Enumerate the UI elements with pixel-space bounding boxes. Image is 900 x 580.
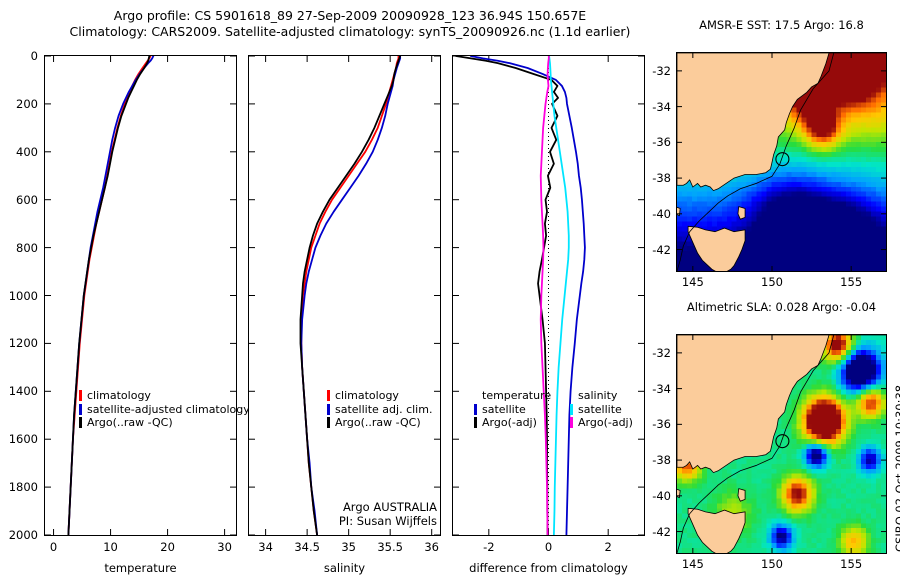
temperature-xtick-label: 10 (103, 540, 118, 554)
difference-profile-axes (452, 55, 645, 536)
sst-map-lat-tick-label: -32 (652, 64, 671, 78)
temperature-axis-label: temperature (44, 561, 237, 575)
sla-map-lon-tick-label: 150 (761, 557, 783, 571)
legend-entry: climatology (79, 389, 250, 403)
depth-tick-label: 600 (16, 193, 38, 207)
legend-entry: satellite-adjusted climatology (79, 403, 250, 417)
argo-attribution: Argo AUSTRALIAPI: Susan Wijffels (241, 500, 437, 528)
temperature-plot-area (45, 56, 236, 535)
sst-map-lon-tick-label: 150 (761, 275, 783, 289)
legend-entry: satellite (570, 403, 633, 417)
depth-tick-label: 1000 (9, 289, 38, 303)
salinity-legend: climatologysatellite adj. clim.Argo(..ra… (327, 389, 432, 430)
legend-color-swatch (474, 417, 477, 428)
legend-label: climatology (87, 389, 151, 403)
credit-text: CSIRO 02-Oct-2009 10:30:38 (893, 385, 900, 552)
series-line (68, 56, 150, 535)
depth-tick-label: 1800 (9, 480, 38, 494)
sst-map-axes (676, 52, 887, 272)
difference-axis-label: difference from climatology (437, 561, 660, 575)
series-line (301, 56, 400, 535)
title-line-2: Climatology: CARS2009. Satellite-adjuste… (30, 24, 670, 40)
legend-heading: temperature (474, 389, 551, 403)
legend-label: Argo(-adj) (482, 416, 537, 430)
difference-xtick-label: 2 (605, 540, 612, 554)
temperature-xtick-label: 20 (160, 540, 175, 554)
legend-color-swatch (79, 404, 82, 415)
salinity-xtick-label: 35 (341, 540, 356, 554)
sla-map-lon-tick-label: 155 (840, 557, 862, 571)
salinity-xtick-label: 35.5 (377, 540, 403, 554)
temperature-legend: climatologysatellite-adjusted climatolog… (79, 389, 250, 430)
legend-label: satellite (578, 403, 622, 417)
salinity-axis-label: salinity (248, 561, 441, 575)
legend-entry: Argo(-adj) (474, 416, 551, 430)
sst-map-lat-tick-label: -34 (652, 100, 671, 114)
salinity-profile-axes (248, 55, 441, 536)
sla-map-lat-tick-label: -42 (652, 525, 671, 539)
title-line-1: Argo profile: CS 5901618_89 27-Sep-2009 … (30, 8, 670, 24)
sla-map-axes (676, 334, 887, 554)
sst-map-lat-tick-label: -40 (652, 207, 671, 221)
difference-legend-temperature: temperaturesatelliteArgo(-adj) (474, 389, 551, 430)
series-line (68, 56, 153, 535)
depth-tick-label: 1600 (9, 432, 38, 446)
legend-label: Argo(..raw -QC) (87, 416, 173, 430)
legend-label: Argo(..raw -QC) (335, 416, 421, 430)
series-line (68, 56, 149, 535)
legend-entry: satellite (474, 403, 551, 417)
legend-label: Argo(-adj) (578, 416, 633, 430)
salinity-plot-area (249, 56, 440, 535)
legend-label: satellite (482, 403, 526, 417)
legend-entry: satellite adj. clim. (327, 403, 432, 417)
salinity-xtick-label: 34.5 (294, 540, 320, 554)
depth-tick-label: 0 (31, 49, 38, 63)
depth-tick-label: 1200 (9, 336, 38, 350)
series-line (300, 56, 400, 535)
legend-color-swatch (327, 417, 330, 428)
legend-label: satellite adj. clim. (335, 403, 432, 417)
series-line (301, 56, 398, 535)
sst-map-lon-tick-label: 155 (840, 275, 862, 289)
legend-label: satellite-adjusted climatology (87, 403, 250, 417)
series-line (471, 56, 585, 535)
legend-entry: Argo(..raw -QC) (327, 416, 432, 430)
sst-map-lat-tick-label: -38 (652, 171, 671, 185)
difference-xtick-label: -2 (483, 540, 494, 554)
salinity-xtick-label: 34 (258, 540, 273, 554)
legend-label: climatology (335, 389, 399, 403)
legend-color-swatch (327, 404, 330, 415)
sla-map-lat-tick-label: -38 (652, 453, 671, 467)
difference-legend-salinity: salinitysatelliteArgo(-adj) (570, 389, 633, 430)
attribution-line: PI: Susan Wijffels (241, 514, 437, 528)
legend-color-swatch (474, 404, 477, 415)
legend-color-swatch (79, 417, 82, 428)
depth-tick-label: 200 (16, 97, 38, 111)
legend-color-swatch (570, 417, 573, 428)
temperature-profile-axes (44, 55, 237, 536)
sla-map-lat-tick-label: -36 (652, 417, 671, 431)
difference-xtick-label: 0 (545, 540, 552, 554)
sla-map-lat-tick-label: -34 (652, 382, 671, 396)
legend-color-swatch (570, 404, 573, 415)
depth-tick-label: 2000 (9, 528, 38, 542)
attribution-line: Argo AUSTRALIA (241, 500, 437, 514)
temperature-xtick-label: 0 (50, 540, 57, 554)
legend-entry: climatology (327, 389, 432, 403)
sla-map-title: Altimetric SLA: 0.028 Argo: -0.04 (676, 300, 887, 314)
sst-map-lat-tick-label: -36 (652, 135, 671, 149)
legend-heading: salinity (570, 389, 633, 403)
legend-entry: Argo(-adj) (570, 416, 633, 430)
sst-map-title: AMSR-E SST: 17.5 Argo: 16.8 (676, 18, 887, 32)
figure-canvas: Argo profile: CS 5901618_89 27-Sep-2009 … (0, 0, 900, 580)
sla-map-area (677, 335, 886, 553)
difference-plot-area (453, 56, 644, 535)
sla-map-lat-tick-label: -40 (652, 489, 671, 503)
temperature-xtick-label: 30 (217, 540, 232, 554)
sla-map-lat-tick-label: -32 (652, 346, 671, 360)
depth-tick-label: 800 (16, 241, 38, 255)
legend-color-swatch (79, 390, 82, 401)
legend-color-swatch (327, 390, 330, 401)
sst-map-lat-tick-label: -42 (652, 243, 671, 257)
salinity-xtick-label: 36 (424, 540, 439, 554)
depth-tick-label: 1400 (9, 384, 38, 398)
legend-entry: Argo(..raw -QC) (79, 416, 250, 430)
sst-map-lon-tick-label: 145 (682, 275, 704, 289)
depth-tick-label: 400 (16, 145, 38, 159)
sst-map-area (677, 53, 886, 271)
sla-map-lon-tick-label: 145 (682, 557, 704, 571)
page-title: Argo profile: CS 5901618_89 27-Sep-2009 … (30, 8, 670, 40)
